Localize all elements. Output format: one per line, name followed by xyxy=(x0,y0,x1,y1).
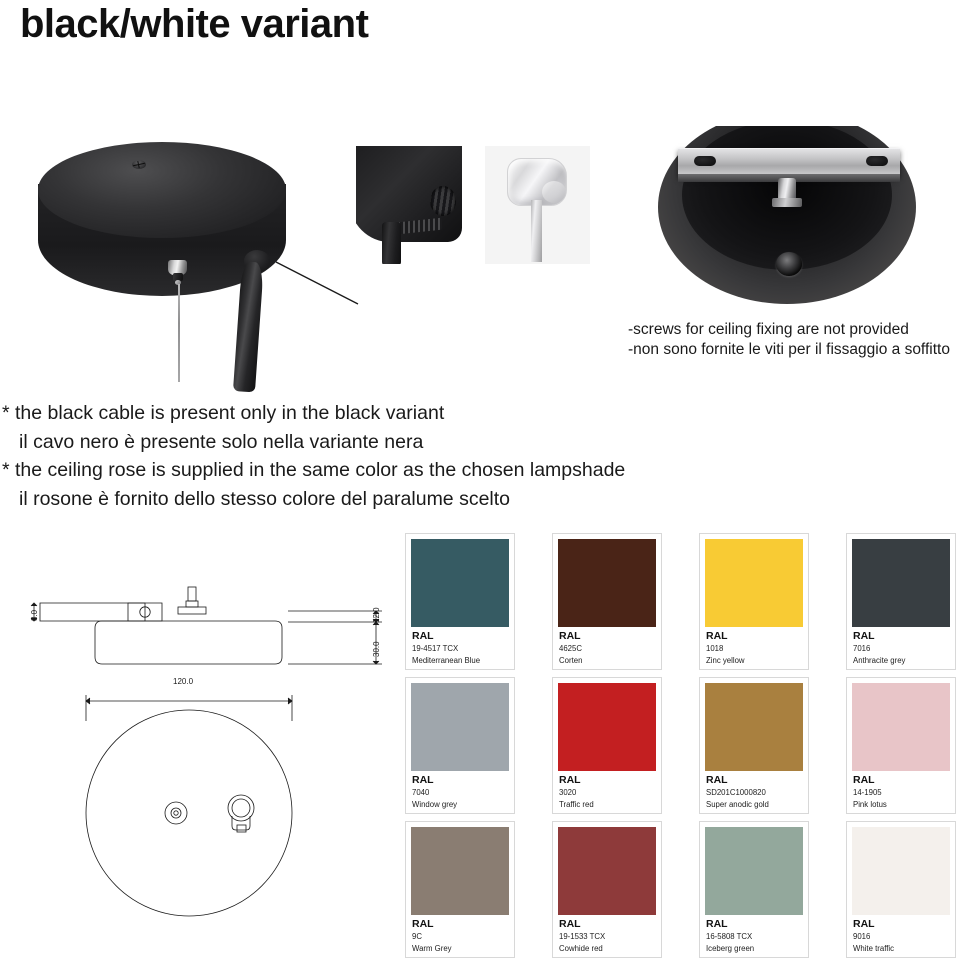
swatch-card[interactable]: RAL 14-1905 Pink lotus xyxy=(846,677,956,814)
swatch-name: Corten xyxy=(559,655,655,667)
swatch-code: 14-1905 xyxy=(853,787,949,799)
swatch-color-block xyxy=(411,539,509,627)
plan-view-drawing xyxy=(10,673,400,963)
swatch-code: 9C xyxy=(412,931,508,943)
note-cable-en: * the black cable is present only in the… xyxy=(2,399,625,428)
swatch-color-block xyxy=(852,827,950,915)
swatch-brand: RAL xyxy=(706,774,802,787)
swatch-brand: RAL xyxy=(853,774,949,787)
swatch-name: Traffic red xyxy=(559,799,655,811)
ceiling-rose-interior-photo xyxy=(630,126,950,306)
swatch-color-block xyxy=(558,539,656,627)
swatch-brand: RAL xyxy=(559,918,655,931)
leader-line xyxy=(28,132,328,382)
dim-diameter: 120.0 xyxy=(173,677,193,686)
swatch-name: Iceberg green xyxy=(706,943,802,955)
note-screws: -screws for ceiling fixing are not provi… xyxy=(628,320,950,360)
swatch-code: 4625C xyxy=(559,643,655,655)
note-color-it: il rosone è fornito dello stesso colore … xyxy=(2,485,625,514)
cable-entry-hole xyxy=(776,252,802,276)
swatch-brand: RAL xyxy=(853,918,949,931)
page-title: black/white variant xyxy=(20,2,368,47)
swatch-card[interactable]: RAL 16-5808 TCX Iceberg green xyxy=(699,821,809,958)
product-spec-sheet: black/white variant xyxy=(0,0,976,968)
note-color-en: * the ceiling rose is supplied in the sa… xyxy=(2,456,625,485)
swatch-code: 16-5808 TCX xyxy=(706,931,802,943)
swatch-card[interactable]: RAL 1018 Zinc yellow xyxy=(699,533,809,670)
side-elevation-drawing xyxy=(10,565,400,685)
swatch-brand: RAL xyxy=(412,774,508,787)
swatch-brand: RAL xyxy=(706,630,802,643)
swatch-name: Mediterranean Blue xyxy=(412,655,508,667)
note-screws-en: -screws for ceiling fixing are not provi… xyxy=(628,320,950,340)
swatch-color-block xyxy=(411,827,509,915)
swatch-color-block xyxy=(852,539,950,627)
dim-bracket-thickness: 8.0 xyxy=(30,610,39,621)
swatch-card[interactable]: RAL 4625C Corten xyxy=(552,533,662,670)
swatch-card[interactable]: RAL 9016 White traffic xyxy=(846,821,956,958)
swatch-code: 7040 xyxy=(412,787,508,799)
swatch-code: 19-4517 TCX xyxy=(412,643,508,655)
swatch-brand: RAL xyxy=(559,630,655,643)
swatch-code: 7016 xyxy=(853,643,949,655)
dim-body-height: 30.0 xyxy=(372,641,381,657)
swatch-code: SD201C1000820 xyxy=(706,787,802,799)
swatch-name: Zinc yellow xyxy=(706,655,802,667)
transparent-grip-detail-photo xyxy=(485,146,590,264)
swatch-card[interactable]: RAL 7040 Window grey xyxy=(405,677,515,814)
note-cable-it: il cavo nero è presente solo nella varia… xyxy=(2,428,625,457)
swatch-card[interactable]: RAL SD201C1000820 Super anodic gold xyxy=(699,677,809,814)
swatch-card[interactable]: RAL 7016 Anthracite grey xyxy=(846,533,956,670)
center-stud-base xyxy=(772,198,802,207)
swatch-color-block xyxy=(558,827,656,915)
swatch-color-block xyxy=(558,683,656,771)
ral-color-swatch-grid: RAL 19-4517 TCX Mediterranean Blue RAL 4… xyxy=(405,533,956,958)
swatch-brand: RAL xyxy=(853,630,949,643)
suspension-rod xyxy=(531,200,542,262)
swatch-code: 9016 xyxy=(853,931,949,943)
swatch-name: Super anodic gold xyxy=(706,799,802,811)
technical-drawings: 8.0 12.0 30.0 xyxy=(10,565,400,965)
swatch-card[interactable]: RAL 3020 Traffic red xyxy=(552,677,662,814)
swatch-brand: RAL xyxy=(412,918,508,931)
bracket-slot-right xyxy=(866,156,888,166)
dim-plate-height: 12.0 xyxy=(372,607,381,623)
note-screws-it: -non sono fornite le viti per il fissagg… xyxy=(628,340,950,360)
swatch-color-block xyxy=(852,683,950,771)
swatch-name: Anthracite grey xyxy=(853,655,949,667)
swatch-color-block xyxy=(705,539,803,627)
swatch-color-block xyxy=(705,683,803,771)
swatch-code: 1018 xyxy=(706,643,802,655)
swatch-color-block xyxy=(411,683,509,771)
swatch-card[interactable]: RAL 19-4517 TCX Mediterranean Blue xyxy=(405,533,515,670)
swatch-name: White traffic xyxy=(853,943,949,955)
swatch-name: Window grey xyxy=(412,799,508,811)
swatch-card[interactable]: RAL 9C Warm Grey xyxy=(405,821,515,958)
swatch-brand: RAL xyxy=(559,774,655,787)
swatch-code: 19-1533 TCX xyxy=(559,931,655,943)
swatch-code: 3020 xyxy=(559,787,655,799)
transparent-cable-grip xyxy=(507,158,567,206)
grommet-ring xyxy=(430,186,456,216)
transparent-grip-highlight xyxy=(542,181,566,203)
bracket-slot-left xyxy=(694,156,716,166)
cable-grommet-detail-photo xyxy=(356,146,466,264)
swatch-name: Cowhide red xyxy=(559,943,655,955)
ceiling-rose-photo xyxy=(28,132,328,382)
swatch-color-block xyxy=(705,827,803,915)
grommet-cable xyxy=(382,222,401,264)
swatch-name: Pink lotus xyxy=(853,799,949,811)
note-variant: * the black cable is present only in the… xyxy=(2,399,625,513)
swatch-name: Warm Grey xyxy=(412,943,508,955)
swatch-brand: RAL xyxy=(412,630,508,643)
swatch-brand: RAL xyxy=(706,918,802,931)
swatch-card[interactable]: RAL 19-1533 TCX Cowhide red xyxy=(552,821,662,958)
